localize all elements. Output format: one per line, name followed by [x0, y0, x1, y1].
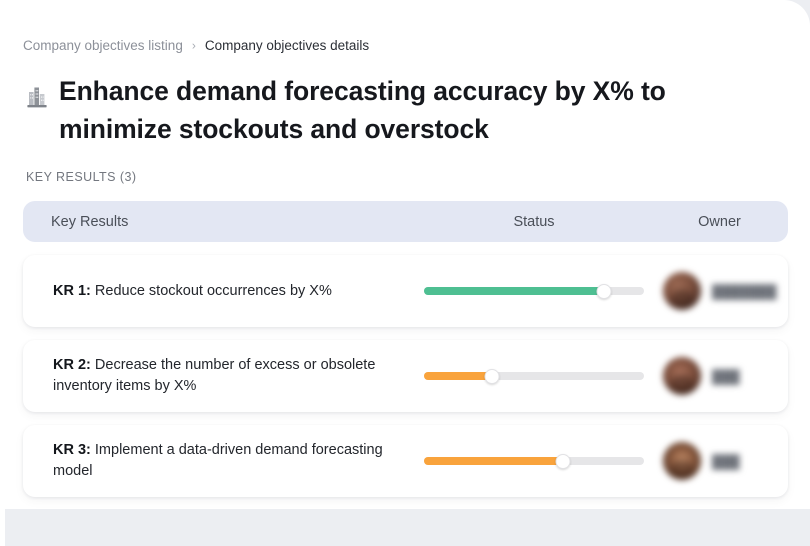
progress-slider[interactable]: [424, 367, 644, 385]
key-result-description: KR 1: Reduce stockout occurrences by X%: [27, 281, 413, 302]
key-result-tag: KR 2:: [53, 357, 91, 373]
breadcrumb-link-listing[interactable]: Company objectives listing: [23, 37, 183, 55]
progress-slider[interactable]: [424, 282, 644, 300]
status-cell: [413, 452, 655, 470]
column-header-owner: Owner: [655, 213, 784, 231]
status-cell: [413, 282, 655, 300]
chevron-right-icon: ›: [192, 37, 196, 55]
key-result-tag: KR 1:: [53, 283, 91, 299]
key-result-tag: KR 3:: [53, 442, 91, 458]
status-cell: [413, 367, 655, 385]
slider-thumb[interactable]: [597, 284, 612, 299]
table-row[interactable]: KR 1: Reduce stockout occurrences by X% …: [23, 255, 788, 327]
slider-fill: [424, 372, 492, 380]
key-result-text: Implement a data-driven demand forecasti…: [53, 442, 383, 479]
column-header-status: Status: [413, 213, 655, 231]
column-header-key-results: Key Results: [27, 213, 413, 231]
owner-name: ███████: [712, 284, 776, 299]
key-results-table: Key Results Status Owner KR 1: Reduce st…: [23, 201, 788, 497]
key-result-text: Decrease the number of excess or obsolet…: [53, 357, 375, 394]
owner-cell: ███: [655, 357, 784, 395]
slider-thumb[interactable]: [485, 369, 500, 384]
slider-thumb[interactable]: [555, 454, 570, 469]
key-result-description: KR 3: Implement a data-driven demand for…: [27, 440, 413, 482]
avatar: [663, 272, 701, 310]
column-header-key-results-label: Key Results: [51, 214, 128, 230]
owner-cell: ███████: [655, 272, 784, 310]
slider-fill: [424, 287, 604, 295]
breadcrumb: Company objectives listing › Company obj…: [23, 36, 788, 56]
left-edge-gutter: [0, 0, 5, 546]
column-header-status-label: Status: [513, 214, 554, 230]
page-title: Enhance demand forecasting accuracy by X…: [59, 72, 731, 148]
table-header-row: Key Results Status Owner: [23, 201, 788, 242]
office-buildings-icon: [25, 84, 49, 110]
column-header-owner-label: Owner: [698, 214, 741, 230]
owner-name: ███: [712, 454, 740, 469]
key-result-text: Reduce stockout occurrences by X%: [91, 283, 332, 299]
key-results-count-label: KEY RESULTS (3): [26, 170, 788, 184]
table-row[interactable]: KR 2: Decrease the number of excess or o…: [23, 340, 788, 412]
table-row[interactable]: KR 3: Implement a data-driven demand for…: [23, 425, 788, 497]
slider-fill: [424, 457, 563, 465]
owner-name: ███: [712, 369, 740, 384]
avatar: [663, 442, 701, 480]
objective-title-row: Enhance demand forecasting accuracy by X…: [23, 72, 788, 148]
progress-slider[interactable]: [424, 452, 644, 470]
breadcrumb-current-details: Company objectives details: [205, 37, 369, 55]
avatar: [663, 357, 701, 395]
key-result-description: KR 2: Decrease the number of excess or o…: [27, 355, 413, 397]
objective-details-page: Company objectives listing › Company obj…: [5, 0, 810, 509]
owner-cell: ███: [655, 442, 784, 480]
